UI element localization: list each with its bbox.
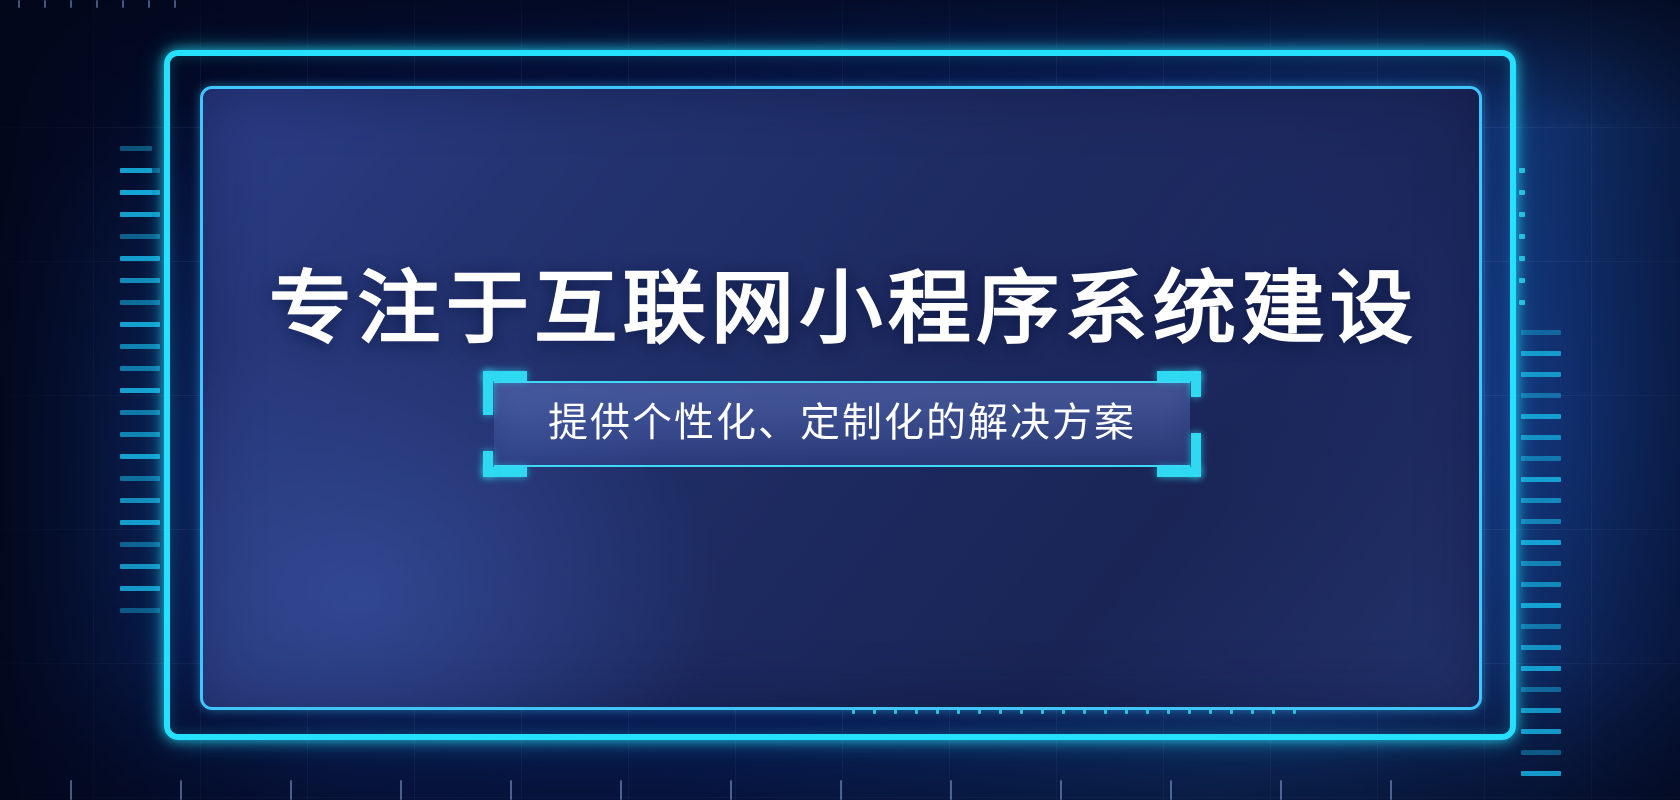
inner-neon-frame [200,86,1482,710]
panel-sheen [203,89,1479,707]
promo-banner: 专注于互联网小程序系统建设 提供个性化、定制化的解决方案 [0,0,1680,800]
